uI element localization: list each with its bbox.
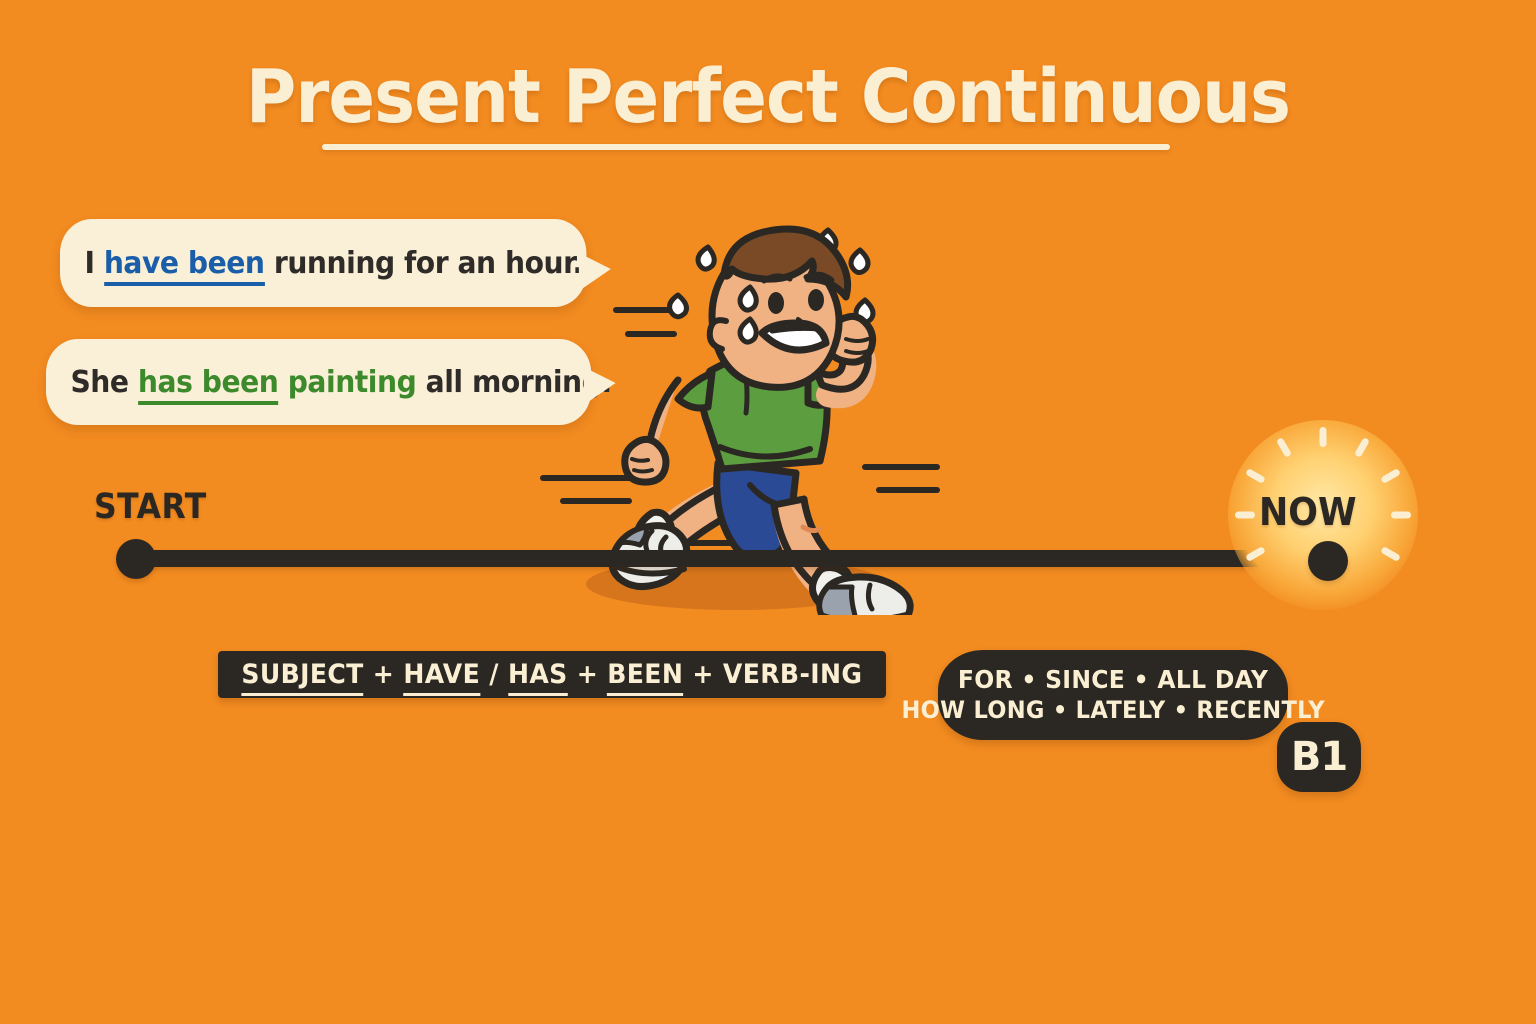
example-2-text: She has been painting all morning. [46, 365, 636, 400]
timeline-start-dot [116, 539, 156, 579]
timeline-bar [135, 550, 1330, 567]
example-bubble-2: She has been painting all morning. [46, 339, 591, 425]
time-markers-pill: FOR • SINCE • ALL DAY HOW LONG • LATELY … [938, 650, 1288, 740]
formula-part-subject: SUBJECT [242, 659, 364, 696]
formula-bar: SUBJECT + HAVE / HAS + BEEN + VERB-ING [218, 651, 886, 698]
formula-part-been: BEEN [607, 659, 683, 696]
formula-part-have: HAVE [403, 659, 480, 696]
formula-slash: / [489, 659, 499, 690]
time-markers-line-1: FOR • SINCE • ALL DAY [958, 665, 1268, 695]
example-bubble-1: I have been running for an hour. [60, 219, 586, 307]
formula-plus-2: + [577, 659, 598, 690]
poster-canvas: Present Perfect Continuous [0, 0, 1536, 1024]
level-badge-label: B1 [1291, 734, 1347, 780]
timeline-now-dot [1308, 541, 1348, 581]
time-markers-line-2: HOW LONG • LATELY • RECENTLY [901, 695, 1324, 725]
example-2-before: She [70, 365, 137, 400]
formula-part-verbing: VERB-ING [723, 659, 862, 690]
formula-plus-3: + [693, 659, 714, 690]
example-2-after: all morning. [416, 365, 611, 400]
title-underline [322, 144, 1170, 150]
bubble-tail [579, 253, 611, 291]
example-1-text: I have been running for an hour. [60, 246, 607, 281]
timeline-start-label: START [94, 487, 207, 527]
formula-text: SUBJECT + HAVE / HAS + BEEN + VERB-ING [242, 659, 863, 690]
formula-plus-1: + [373, 659, 394, 690]
formula-part-has: HAS [508, 659, 568, 696]
timeline-now-label: NOW [1259, 490, 1357, 534]
example-1-before: I [84, 246, 103, 281]
page-title: Present Perfect Continuous [54, 54, 1482, 140]
example-1-after: running for an hour. [265, 246, 583, 281]
example-1-highlight: have been [104, 246, 265, 286]
example-2-verb: painting [278, 365, 416, 400]
example-2-highlight: has been [138, 365, 278, 405]
level-badge: B1 [1277, 722, 1361, 792]
bubble-tail [584, 367, 616, 405]
